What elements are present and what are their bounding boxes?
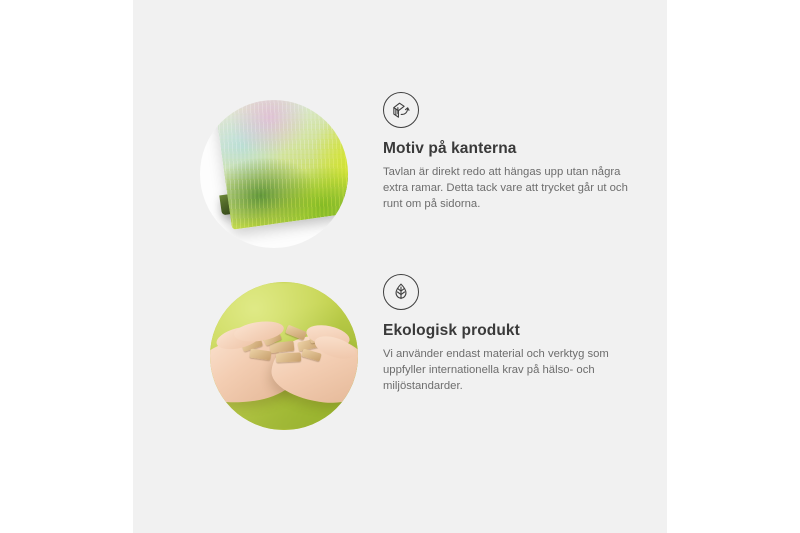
feature-text-column: Ekologisk produkt Vi använder endast mat… — [383, 274, 653, 394]
canvas-print-corner-photo — [200, 100, 348, 248]
canvas-wrapped-edges-icon — [383, 92, 419, 128]
feature-description: Tavlan är direkt redo att hängas upp uta… — [383, 164, 645, 213]
hands-holding-wood-chips-photo — [210, 282, 358, 430]
leaf-icon — [383, 274, 419, 310]
feature-description: Vi använder endast material och verktyg … — [383, 346, 645, 395]
feature-title: Motiv på kanterna — [383, 140, 653, 159]
feature-row: Motiv på kanterna Tavlan är direkt redo … — [133, 92, 667, 252]
feature-title: Ekologisk produkt — [383, 322, 653, 341]
screenshot-stage: Motiv på kanterna Tavlan är direkt redo … — [0, 0, 800, 533]
canvas-artwork-surface — [213, 100, 348, 230]
product-features-panel: Motiv på kanterna Tavlan är direkt redo … — [133, 0, 667, 533]
feature-row: Ekologisk produkt Vi använder endast mat… — [133, 274, 667, 434]
feature-text-column: Motiv på kanterna Tavlan är direkt redo … — [383, 92, 653, 212]
